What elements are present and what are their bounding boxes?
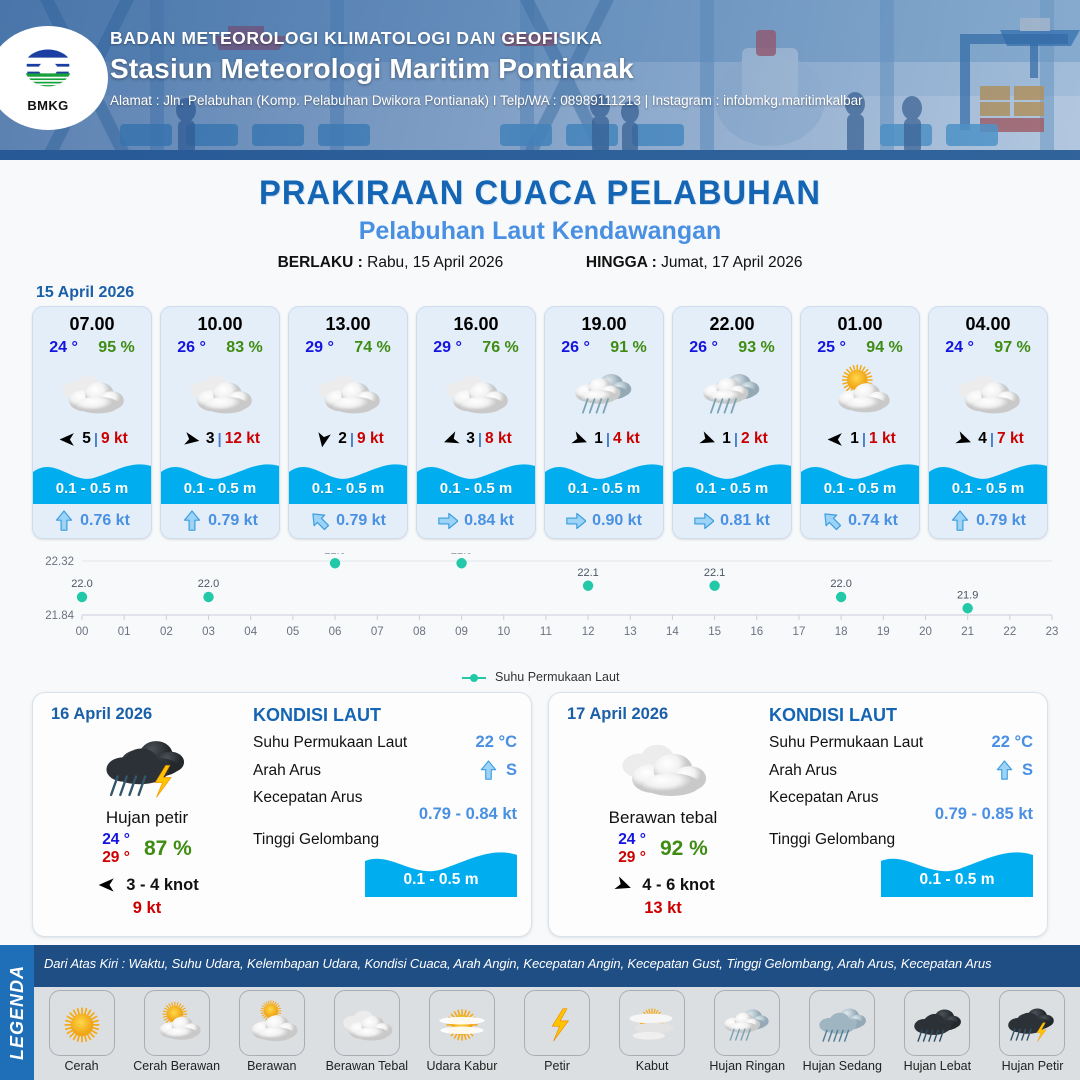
card-separator: |: [734, 431, 738, 448]
wave-height-label: Tinggi Gelombang: [253, 831, 379, 849]
forecast-card[interactable]: 10.00 26 ° 83 %: [160, 306, 280, 539]
legend-item-label: Hujan Sedang: [795, 1059, 890, 1073]
forecast-date-label: 15 April 2026: [36, 284, 1080, 302]
legend-item-label: Hujan Ringan: [700, 1059, 795, 1073]
wind-direction-icon: [568, 430, 591, 449]
wave-height-label: Tinggi Gelombang: [769, 831, 895, 849]
current-direction-icon: [438, 510, 458, 532]
card-wind-row: 2 | 9 kt: [289, 426, 407, 452]
card-wind-row: 5 | 9 kt: [33, 426, 151, 452]
mostly-cloudy-icon: [245, 999, 299, 1047]
card-separator: |: [990, 431, 994, 448]
panel-right: KONDISI LAUT Suhu Permukaan Laut 22 °C A…: [763, 705, 1033, 922]
card-wind-speed: 12 kt: [225, 430, 260, 448]
thunderstorm-icon: [101, 725, 193, 806]
panel-condition: Berawan tebal: [563, 808, 763, 828]
moderate-rain-icon: [815, 999, 869, 1047]
card-wave-block: 0.1 - 0.5 m: [33, 454, 151, 504]
current-direction-label: Arah Arus: [253, 762, 321, 780]
card-wind-dir-value: 2: [338, 430, 347, 448]
legend-item: Cerah Berawan: [129, 987, 224, 1073]
panel-wind-range: 4 - 6 knot: [642, 876, 714, 895]
sst-value: 22 °C: [476, 733, 517, 752]
panel-date: 16 April 2026: [51, 705, 247, 724]
svg-text:19: 19: [877, 626, 890, 638]
hourly-forecast-list: 07.00 24 ° 95 %: [0, 306, 1080, 539]
card-wind-speed: 2 kt: [741, 430, 768, 448]
legend-item-label: Hujan Petir: [985, 1059, 1080, 1073]
legend-item-label: Petir: [509, 1059, 604, 1073]
card-current-speed: 0.90 kt: [592, 512, 642, 530]
card-wave-height: 0.1 - 0.5 m: [289, 480, 407, 497]
legend-item-list: Cerah Cerah Berawan: [34, 987, 1080, 1073]
forecast-card[interactable]: 07.00 24 ° 95 %: [32, 306, 152, 539]
legend-item-label: Cerah: [34, 1059, 129, 1073]
card-current-row: 0.79 kt: [929, 504, 1047, 538]
card-wind-dir-value: 1: [850, 430, 859, 448]
card-current-row: 0.76 kt: [33, 504, 151, 538]
panel-temp-max: 29 °: [618, 849, 646, 867]
legend-icon-box: [429, 990, 495, 1056]
panel-gust: 13 kt: [563, 899, 763, 918]
card-wind-dir-value: 3: [206, 430, 215, 448]
panel-wind-range: 3 - 4 knot: [126, 876, 198, 895]
heavy-rain-icon: [910, 999, 964, 1047]
svg-text:04: 04: [244, 626, 257, 638]
card-wind-row: 1 | 1 kt: [801, 426, 919, 452]
panel-temp-min: 24 °: [102, 831, 130, 849]
card-wind-speed: 9 kt: [357, 430, 384, 448]
card-wave-height: 0.1 - 0.5 m: [801, 480, 919, 497]
card-wind-dir-value: 1: [722, 430, 731, 448]
wind-direction-icon: [440, 430, 463, 449]
card-time: 19.00: [545, 314, 663, 335]
svg-text:14: 14: [666, 626, 679, 638]
light-rain-icon: [698, 361, 766, 421]
valid-from-value: Rabu, 15 April 2026: [367, 254, 503, 271]
svg-text:07: 07: [371, 626, 384, 638]
light-rain-icon: [720, 999, 774, 1047]
panel-humidity: 87 %: [144, 837, 192, 861]
legend-side-tab: LEGENDA: [0, 945, 34, 1080]
card-wind-speed: 4 kt: [613, 430, 640, 448]
legend-side-title: LEGENDA: [7, 965, 28, 1060]
legend-item: Hujan Lebat: [890, 987, 985, 1073]
current-direction-value: S: [1022, 761, 1033, 780]
card-separator: |: [478, 431, 482, 448]
panel-temps: 24 ° 29 ° 92 %: [563, 831, 763, 867]
svg-text:23: 23: [1046, 626, 1059, 638]
card-current-speed: 0.74 kt: [848, 512, 898, 530]
card-time: 01.00: [801, 314, 919, 335]
daily-forecast-panel[interactable]: 17 April 2026: [548, 692, 1048, 937]
panel-weather-icon: [47, 726, 247, 804]
sst-chart: 22.3221.84000102030405060708091011121314…: [20, 553, 1060, 668]
card-separator: |: [218, 431, 222, 448]
card-weather-icon: [161, 360, 279, 422]
card-time: 10.00: [161, 314, 279, 335]
panel-temp-min: 24 °: [618, 831, 646, 849]
light-rain-icon: [570, 361, 638, 421]
card-weather-icon: [929, 360, 1047, 422]
overcast-icon: [340, 999, 394, 1047]
valid-until-value: Jumat, 17 April 2026: [661, 254, 802, 271]
card-current-row: 0.81 kt: [673, 504, 791, 538]
page-title: PRAKIRAAN CUACA PELABUHAN: [22, 174, 1059, 213]
wind-direction-icon: [824, 430, 847, 449]
valid-until-label: HINGGA :: [586, 254, 657, 271]
card-separator: |: [94, 431, 98, 448]
card-humidity: 97 %: [994, 339, 1030, 357]
current-direction-icon: [54, 510, 74, 532]
card-current-speed: 0.79 kt: [208, 512, 258, 530]
current-speed-value: 0.79 - 0.84 kt: [253, 805, 517, 824]
daily-forecast-panels: 16 April 2026: [0, 684, 1080, 937]
legend-item: Cerah: [34, 987, 129, 1073]
card-temperature: 25 °: [817, 339, 846, 357]
sea-condition-title: KONDISI LAUT: [769, 705, 1033, 726]
panel-left: 16 April 2026: [47, 705, 247, 922]
card-wave-height: 0.1 - 0.5 m: [417, 480, 535, 497]
legend-item: Udara Kabur: [414, 987, 509, 1073]
card-weather-icon: [673, 360, 791, 422]
svg-text:22.0: 22.0: [830, 578, 851, 590]
legend-item-label: Berawan Tebal: [319, 1059, 414, 1073]
panel-weather-icon: [563, 726, 763, 804]
cloudy-icon: [58, 361, 126, 421]
card-weather-icon: [417, 360, 535, 422]
card-wind-speed: 7 kt: [997, 430, 1024, 448]
sst-value: 22 °C: [992, 733, 1033, 752]
svg-text:22.3: 22.3: [324, 553, 345, 556]
legend-item-label: Udara Kabur: [414, 1059, 509, 1073]
station-name: Stasiun Meteorologi Maritim Pontianak: [110, 53, 1070, 85]
panel-temp-max: 29 °: [102, 849, 130, 867]
sst-chart-svg: 22.3221.84000102030405060708091011121314…: [20, 553, 1060, 668]
svg-text:11: 11: [540, 626, 552, 638]
page-header: BMKG BADAN METEOROLOGI KLIMATOLOGI DAN G…: [0, 0, 1080, 160]
sunny-icon: [55, 999, 109, 1047]
card-separator: |: [350, 431, 354, 448]
svg-text:20: 20: [919, 626, 932, 638]
card-time: 22.00: [673, 314, 791, 335]
legend-item-label: Hujan Lebat: [890, 1059, 985, 1073]
card-temperature: 24 °: [49, 339, 78, 357]
forecast-card[interactable]: 22.00 26 ° 93 %: [672, 306, 792, 539]
svg-text:10: 10: [497, 626, 510, 638]
current-direction-label: Arah Arus: [769, 762, 837, 780]
current-direction-value: S: [506, 761, 517, 780]
valid-from-label: BERLAKU :: [278, 254, 363, 271]
wind-direction-icon: [696, 430, 719, 449]
card-wave-height: 0.1 - 0.5 m: [33, 480, 151, 497]
partly-cloudy-icon: [150, 999, 204, 1047]
card-wind-row: 1 | 2 kt: [673, 426, 791, 452]
current-speed-label: Kecepatan Arus: [253, 789, 362, 807]
partly-cloudy-icon: [826, 361, 894, 421]
card-humidity: 91 %: [610, 339, 646, 357]
legend-note: Dari Atas Kiri : Waktu, Suhu Udara, Kele…: [44, 956, 991, 971]
validity-row: BERLAKU : Rabu, 15 April 2026 HINGGA : J…: [0, 254, 1080, 272]
card-humidity: 83 %: [226, 339, 262, 357]
card-wave-block: 0.1 - 0.5 m: [545, 454, 663, 504]
cloudy-icon: [186, 361, 254, 421]
card-wind-dir-value: 4: [978, 430, 987, 448]
card-current-row: 0.74 kt: [801, 504, 919, 538]
haze-icon: [435, 999, 489, 1047]
panel-left: 17 April 2026: [563, 705, 763, 922]
daily-forecast-panel[interactable]: 16 April 2026: [32, 692, 532, 937]
svg-text:21.84: 21.84: [45, 610, 74, 622]
current-direction-icon: [822, 510, 842, 532]
panel-right: KONDISI LAUT Suhu Permukaan Laut 22 °C A…: [247, 705, 517, 922]
card-time: 04.00: [929, 314, 1047, 335]
legend-icon-box: [619, 990, 685, 1056]
bmkg-logo-icon: [20, 43, 76, 97]
card-wave-block: 0.1 - 0.5 m: [289, 454, 407, 504]
forecast-card[interactable]: 01.00 25 ° 94 %: [800, 306, 920, 539]
svg-text:02: 02: [160, 626, 173, 638]
card-temperature: 24 °: [945, 339, 974, 357]
card-time: 13.00: [289, 314, 407, 335]
legend-icon-box: [334, 990, 400, 1056]
current-speed-value: 0.79 - 0.85 kt: [769, 805, 1033, 824]
thunderstorm-icon: [1005, 999, 1059, 1047]
page-subtitle: Pelabuhan Laut Kendawangan: [0, 217, 1080, 246]
card-temperature: 26 °: [177, 339, 206, 357]
card-current-speed: 0.81 kt: [720, 512, 770, 530]
card-current-speed: 0.84 kt: [464, 512, 514, 530]
card-wind-speed: 8 kt: [485, 430, 512, 448]
forecast-card[interactable]: 04.00 24 ° 97 %: [928, 306, 1048, 539]
card-wind-row: 4 | 7 kt: [929, 426, 1047, 452]
card-current-row: 0.84 kt: [417, 504, 535, 538]
panel-condition: Hujan petir: [47, 808, 247, 828]
bmkg-logo-text: BMKG: [27, 98, 68, 113]
current-direction-icon: [950, 510, 970, 532]
card-wave-block: 0.1 - 0.5 m: [417, 454, 535, 504]
card-weather-icon: [801, 360, 919, 422]
sst-label: Suhu Permukaan Laut: [769, 734, 923, 752]
svg-text:08: 08: [413, 626, 426, 638]
card-current-row: 0.90 kt: [545, 504, 663, 538]
panel-wave-value: 0.1 - 0.5 m: [365, 871, 517, 889]
svg-text:13: 13: [624, 626, 637, 638]
svg-text:17: 17: [793, 626, 806, 638]
card-temperature: 29 °: [433, 339, 462, 357]
card-current-row: 0.79 kt: [161, 504, 279, 538]
svg-text:16: 16: [750, 626, 763, 638]
panel-wave-badge: 0.1 - 0.5 m: [365, 845, 517, 897]
wind-direction-icon: [952, 430, 975, 449]
svg-text:22.1: 22.1: [704, 567, 725, 579]
card-temperature: 26 °: [561, 339, 590, 357]
card-wind-dir-value: 5: [82, 430, 91, 448]
card-temperature: 29 °: [305, 339, 334, 357]
current-direction-icon: [310, 510, 330, 532]
legend-icon-box: [714, 990, 780, 1056]
current-direction-icon: [479, 759, 498, 782]
current-direction-value-group: S: [995, 759, 1033, 782]
wind-direction-icon: [56, 430, 79, 449]
legend-icon-box: [524, 990, 590, 1056]
wind-direction-icon: [95, 875, 119, 895]
card-wave-block: 0.1 - 0.5 m: [929, 454, 1047, 504]
legend-item: Berawan: [224, 987, 319, 1073]
cloudy-icon: [314, 361, 382, 421]
panel-temps: 24 ° 29 ° 87 %: [47, 831, 247, 867]
card-wind-speed: 9 kt: [101, 430, 128, 448]
sea-condition-title: KONDISI LAUT: [253, 705, 517, 726]
current-direction-icon: [995, 759, 1014, 782]
current-direction-icon: [566, 510, 586, 532]
card-humidity: 74 %: [354, 339, 390, 357]
card-current-speed: 0.79 kt: [336, 512, 386, 530]
legend-item: Hujan Sedang: [795, 987, 890, 1073]
card-current-row: 0.79 kt: [289, 504, 407, 538]
card-wind-dir-value: 1: [594, 430, 603, 448]
cloudy-icon: [442, 361, 510, 421]
card-current-speed: 0.76 kt: [80, 512, 130, 530]
current-direction-icon: [694, 510, 714, 532]
svg-text:09: 09: [455, 626, 468, 638]
wind-direction-icon: [180, 430, 203, 449]
station-address: Alamat : Jln. Pelabuhan (Komp. Pelabuhan…: [110, 93, 1070, 108]
card-wind-row: 1 | 4 kt: [545, 426, 663, 452]
card-humidity: 76 %: [482, 339, 518, 357]
card-wind-row: 3 | 12 kt: [161, 426, 279, 452]
svg-text:00: 00: [76, 626, 89, 638]
svg-text:06: 06: [329, 626, 342, 638]
svg-text:22.32: 22.32: [45, 556, 74, 568]
card-humidity: 94 %: [866, 339, 902, 357]
legend-item: Hujan Ringan: [700, 987, 795, 1073]
current-speed-label: Kecepatan Arus: [769, 789, 878, 807]
legend-section: Dari Atas Kiri : Waktu, Suhu Udara, Kele…: [0, 945, 1080, 1080]
panel-wind-row: 3 - 4 knot: [47, 875, 247, 895]
legend-item: Petir: [509, 987, 604, 1073]
svg-text:22.1: 22.1: [577, 567, 598, 579]
title-section: PRAKIRAAN CUACA PELABUHAN Pelabuhan Laut…: [0, 160, 1080, 272]
card-wave-height: 0.1 - 0.5 m: [161, 480, 279, 497]
svg-text:05: 05: [286, 626, 299, 638]
legend-icon-box: [144, 990, 210, 1056]
card-wind-speed: 1 kt: [869, 430, 896, 448]
card-weather-icon: [33, 360, 151, 422]
panel-humidity: 92 %: [660, 837, 708, 861]
card-wind-dir-value: 3: [466, 430, 475, 448]
wind-direction-icon: [611, 875, 635, 895]
forecast-card[interactable]: 19.00 26 ° 91 %: [544, 306, 664, 539]
forecast-card[interactable]: 13.00 29 ° 74 %: [288, 306, 408, 539]
sst-label: Suhu Permukaan Laut: [253, 734, 407, 752]
card-time: 16.00: [417, 314, 535, 335]
card-wave-height: 0.1 - 0.5 m: [673, 480, 791, 497]
legend-icon-box: [809, 990, 875, 1056]
svg-text:21.9: 21.9: [957, 589, 978, 601]
panel-wind-row: 4 - 6 knot: [563, 875, 763, 895]
svg-text:22.3: 22.3: [451, 553, 472, 556]
card-temperature: 26 °: [689, 339, 718, 357]
card-humidity: 95 %: [98, 339, 134, 357]
lightning-icon: [530, 999, 584, 1047]
fog-icon: [625, 999, 679, 1047]
card-weather-icon: [289, 360, 407, 422]
card-current-speed: 0.79 kt: [976, 512, 1026, 530]
svg-text:18: 18: [835, 626, 848, 638]
svg-text:03: 03: [202, 626, 215, 638]
svg-text:22: 22: [1003, 626, 1016, 638]
svg-text:15: 15: [708, 626, 721, 638]
card-wave-height: 0.1 - 0.5 m: [545, 480, 663, 497]
legend-icon-box: [49, 990, 115, 1056]
current-direction-icon: [182, 510, 202, 532]
card-humidity: 93 %: [738, 339, 774, 357]
current-direction-value-group: S: [479, 759, 517, 782]
agency-name: BADAN METEOROLOGI KLIMATOLOGI DAN GEOFIS…: [110, 28, 1070, 49]
card-weather-icon: [545, 360, 663, 422]
panel-wave-badge: 0.1 - 0.5 m: [881, 845, 1033, 897]
card-wave-height: 0.1 - 0.5 m: [929, 480, 1047, 497]
cloudy-icon: [954, 361, 1022, 421]
legend-item-label: Kabut: [605, 1059, 700, 1073]
card-time: 07.00: [33, 314, 151, 335]
legend-icon-box: [904, 990, 970, 1056]
panel-wave-value: 0.1 - 0.5 m: [881, 871, 1033, 889]
card-wave-block: 0.1 - 0.5 m: [801, 454, 919, 504]
svg-text:22.0: 22.0: [198, 578, 219, 590]
wind-direction-icon: [312, 430, 335, 449]
legend-icon-box: [999, 990, 1065, 1056]
chart-legend-marker-icon: [461, 673, 487, 683]
card-wind-row: 3 | 8 kt: [417, 426, 535, 452]
card-separator: |: [862, 431, 866, 448]
chart-legend-label: Suhu Permukaan Laut: [495, 670, 619, 684]
svg-text:22.0: 22.0: [71, 578, 92, 590]
forecast-card[interactable]: 16.00 29 ° 76 %: [416, 306, 536, 539]
legend-item: Hujan Petir: [985, 987, 1080, 1073]
panel-gust: 9 kt: [47, 899, 247, 918]
legend-item-label: Berawan: [224, 1059, 319, 1073]
legend-icon-box: [239, 990, 305, 1056]
legend-item: Kabut: [605, 987, 700, 1073]
chart-legend: Suhu Permukaan Laut: [0, 670, 1080, 684]
legend-item: Berawan Tebal: [319, 987, 414, 1073]
card-separator: |: [606, 431, 610, 448]
svg-text:12: 12: [582, 626, 595, 638]
svg-text:21: 21: [961, 626, 974, 638]
card-wave-block: 0.1 - 0.5 m: [673, 454, 791, 504]
svg-text:01: 01: [118, 626, 131, 638]
legend-item-label: Cerah Berawan: [129, 1059, 224, 1073]
panel-date: 17 April 2026: [567, 705, 763, 724]
overcast-icon: [617, 725, 709, 806]
card-wave-block: 0.1 - 0.5 m: [161, 454, 279, 504]
